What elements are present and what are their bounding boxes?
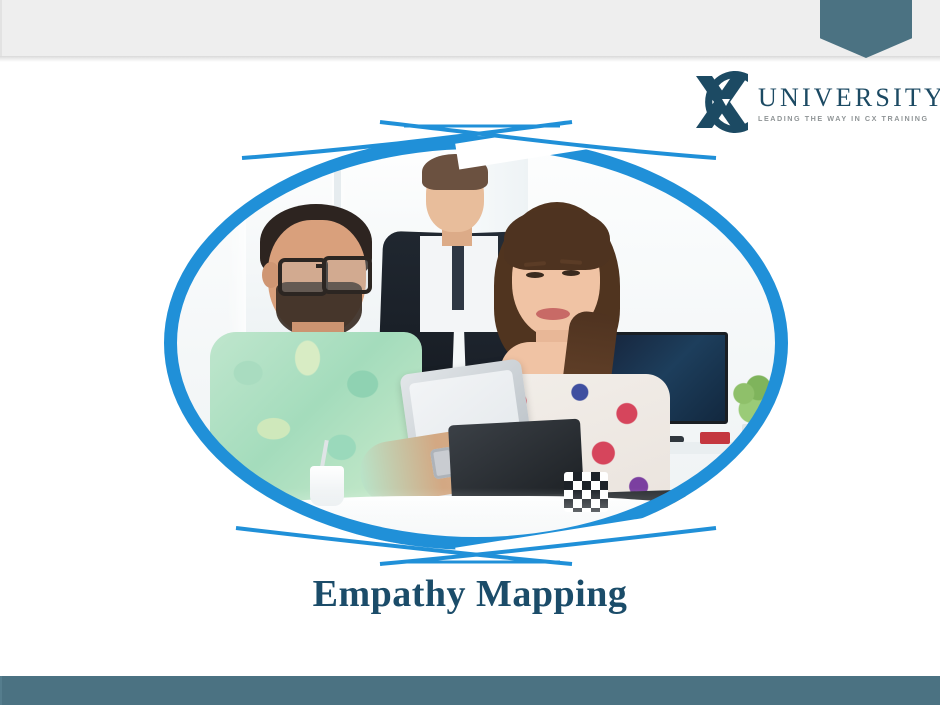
photo-woman-hair-top bbox=[504, 208, 610, 270]
photo-block bbox=[156, 118, 796, 568]
photo-woman-eye-right bbox=[562, 270, 580, 276]
photo-woman-lips bbox=[536, 308, 570, 320]
footer-bar bbox=[0, 676, 940, 705]
slide-canvas: UNIVERSITY LEADING THE WAY IN CX TRAININ… bbox=[0, 0, 940, 705]
photo-image bbox=[164, 136, 788, 550]
photo-woman-eye-left bbox=[526, 272, 544, 278]
page-title: Empathy Mapping bbox=[0, 572, 940, 616]
photo-seated-man-glasses-bridge bbox=[316, 264, 326, 268]
decoration-cross-top bbox=[156, 114, 796, 160]
photo-plant-pot bbox=[742, 424, 766, 446]
decoration-cross-bottom bbox=[156, 526, 796, 572]
photo-standing-man-tie bbox=[452, 240, 464, 310]
photo-desk-object bbox=[700, 432, 730, 444]
header-band bbox=[0, 0, 940, 56]
header-band-shadow bbox=[0, 56, 940, 62]
logo-wordmark: UNIVERSITY bbox=[758, 85, 928, 111]
photo-seated-man-glasses-right bbox=[322, 256, 372, 294]
